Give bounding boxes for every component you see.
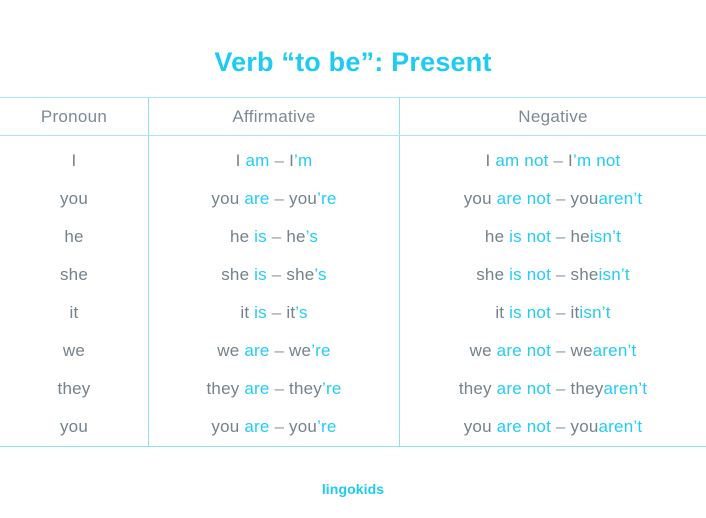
cell-negative: they are not – theyaren’t (400, 370, 706, 408)
cell-affirmative: they are – they’re (148, 370, 400, 408)
phrase-subject: you (464, 189, 497, 209)
cell-affirmative: he is – he’s (148, 218, 400, 256)
phrase-contraction: ’s (314, 265, 326, 285)
phrase-short-subject: it (286, 303, 295, 323)
phrase-subject: they (459, 379, 497, 399)
phrase-verb: are not (497, 379, 551, 399)
pronoun-text: you (60, 189, 88, 209)
worksheet-page: Verb “to be”: Present Pronoun Affirmativ… (0, 18, 706, 518)
cell-negative: he is not – heisn’t (400, 218, 706, 256)
verb-conjugation-table: Pronoun Affirmative Negative II am – I’m… (0, 97, 706, 447)
phrase-verb: are (244, 189, 269, 209)
column-header-negative-label: Negative (518, 107, 588, 127)
phrase-short-subject: we (571, 341, 593, 361)
phrase-separator: – (270, 189, 290, 209)
cell-negative: it is not – itisn’t (400, 294, 706, 332)
phrase-contraction: isn’t (579, 303, 610, 323)
phrase-subject: he (230, 227, 254, 247)
phrase-verb: are (244, 379, 269, 399)
phrase-separator: – (270, 379, 290, 399)
phrase-separator: – (551, 379, 571, 399)
phrase-verb: is not (509, 265, 551, 285)
pronoun-text: you (60, 417, 88, 437)
phrase-short-subject: he (286, 227, 305, 247)
table-row: youyou are – you’reyou are not – youaren… (0, 180, 706, 218)
phrase-short-subject: she (571, 265, 599, 285)
phrase-subject: he (485, 227, 509, 247)
phrase-verb: are (244, 341, 269, 361)
phrase-subject: you (211, 189, 244, 209)
phrase-verb: am (246, 151, 270, 171)
phrase-subject: you (464, 417, 497, 437)
page-title: Verb “to be”: Present (0, 18, 706, 78)
phrase-subject: she (221, 265, 254, 285)
pronoun-text: it (70, 303, 79, 323)
phrase-separator: – (267, 227, 287, 247)
phrase-verb: is (254, 303, 267, 323)
phrase-separator: – (551, 417, 571, 437)
phrase-short-subject: she (286, 265, 314, 285)
table-row: itit is – it’sit is not – itisn’t (0, 294, 706, 332)
table-row: sheshe is – she’sshe is not – sheisn’t (0, 256, 706, 294)
phrase-short-subject: they (289, 379, 322, 399)
table-row: wewe are – we’rewe are not – wearen’t (0, 332, 706, 370)
phrase-verb: is (254, 265, 267, 285)
phrase-separator: – (270, 151, 290, 171)
phrase-verb: are not (497, 417, 551, 437)
cell-affirmative: we are – we’re (148, 332, 400, 370)
phrase-separator: – (267, 265, 287, 285)
column-header-affirmative: Affirmative (148, 98, 400, 135)
lingokids-logo: lingokids (322, 481, 384, 497)
phrase-short-subject: you (571, 417, 599, 437)
phrase-subject: you (211, 417, 244, 437)
phrase-contraction: aren’t (599, 417, 643, 437)
cell-affirmative: you are – you’re (148, 408, 400, 446)
phrase-contraction: ’s (295, 303, 307, 323)
phrase-contraction: ’re (317, 417, 337, 437)
phrase-contraction: ’s (306, 227, 318, 247)
column-header-pronoun-label: Pronoun (41, 107, 107, 127)
phrase-subject: I (486, 151, 496, 171)
phrase-separator: – (549, 151, 569, 171)
phrase-subject: we (470, 341, 497, 361)
column-header-pronoun: Pronoun (0, 98, 148, 135)
cell-negative: you are not – youaren’t (400, 408, 706, 446)
phrase-subject: it (495, 303, 509, 323)
pronoun-text: we (63, 341, 85, 361)
phrase-verb: is (254, 227, 267, 247)
cell-pronoun: they (0, 370, 148, 408)
cell-pronoun: I (0, 136, 148, 180)
phrase-contraction: ’re (317, 189, 337, 209)
phrase-contraction: isn’t (599, 265, 630, 285)
pronoun-text: he (64, 227, 83, 247)
table-row: hehe is – he’she is not – heisn’t (0, 218, 706, 256)
pronoun-text: she (60, 265, 88, 285)
phrase-subject: she (476, 265, 509, 285)
phrase-contraction: isn’t (590, 227, 621, 247)
cell-pronoun: it (0, 294, 148, 332)
pronoun-text: I (72, 151, 77, 171)
cell-pronoun: you (0, 408, 148, 446)
phrase-short-subject: he (571, 227, 590, 247)
phrase-contraction: aren’t (593, 341, 637, 361)
phrase-separator: – (551, 341, 571, 361)
phrase-short-subject: they (571, 379, 604, 399)
cell-affirmative: I am – I’m (148, 136, 400, 180)
phrase-short-subject: you (571, 189, 599, 209)
phrase-separator: – (270, 341, 290, 361)
footer: lingokids (0, 481, 706, 499)
cell-pronoun: he (0, 218, 148, 256)
phrase-verb: are not (497, 189, 551, 209)
phrase-separator: – (551, 265, 571, 285)
cell-pronoun: she (0, 256, 148, 294)
column-header-negative: Negative (400, 98, 706, 135)
phrase-short-subject: you (289, 417, 317, 437)
phrase-contraction: aren’t (603, 379, 647, 399)
phrase-short-subject: it (571, 303, 580, 323)
phrase-separator: – (270, 417, 290, 437)
phrase-verb: is not (509, 227, 551, 247)
phrase-contraction: ’m (294, 151, 312, 171)
phrase-short-subject: we (289, 341, 311, 361)
cell-negative: we are not – wearen’t (400, 332, 706, 370)
table-header-row: Pronoun Affirmative Negative (0, 98, 706, 136)
phrase-subject: we (217, 341, 244, 361)
phrase-contraction: ’re (322, 379, 342, 399)
phrase-short-subject: you (289, 189, 317, 209)
phrase-subject: I (236, 151, 246, 171)
phrase-verb: are (244, 417, 269, 437)
phrase-subject: they (207, 379, 245, 399)
cell-affirmative: she is – she’s (148, 256, 400, 294)
phrase-separator: – (551, 189, 571, 209)
phrase-verb: are not (497, 341, 551, 361)
table-row: II am – I’mI am not – I’m not (0, 136, 706, 180)
cell-negative: I am not – I’m not (400, 136, 706, 180)
phrase-verb: is not (509, 303, 551, 323)
phrase-verb: am not (495, 151, 548, 171)
phrase-subject: it (240, 303, 254, 323)
phrase-separator: – (267, 303, 287, 323)
cell-pronoun: we (0, 332, 148, 370)
cell-affirmative: it is – it’s (148, 294, 400, 332)
pronoun-text: they (58, 379, 91, 399)
table-body: II am – I’mI am not – I’m notyouyou are … (0, 136, 706, 446)
phrase-contraction: ’m not (573, 151, 621, 171)
table-row: youyou are – you’reyou are not – youaren… (0, 408, 706, 446)
cell-negative: you are not – youaren’t (400, 180, 706, 218)
column-header-affirmative-label: Affirmative (232, 107, 315, 127)
phrase-contraction: aren’t (599, 189, 643, 209)
phrase-contraction: ’re (311, 341, 331, 361)
cell-pronoun: you (0, 180, 148, 218)
cell-affirmative: you are – you’re (148, 180, 400, 218)
phrase-separator: – (551, 227, 571, 247)
table-row: theythey are – they’rethey are not – the… (0, 370, 706, 408)
phrase-separator: – (551, 303, 571, 323)
cell-negative: she is not – sheisn’t (400, 256, 706, 294)
